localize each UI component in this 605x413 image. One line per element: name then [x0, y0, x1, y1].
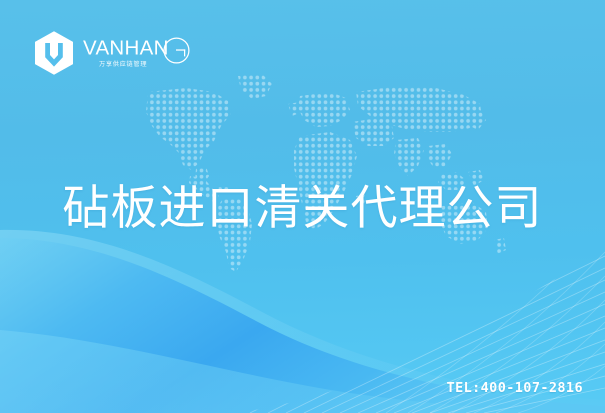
page-title: 砧板进口清关代理公司 — [0, 180, 605, 238]
contact-phone: TEL:400-107-2816 — [447, 380, 583, 396]
vanhang-wordmark: VANHAN VANHAN 万享供应链管理 — [83, 37, 193, 71]
banner-canvas: VANHAN VANHAN 万享供应链管理 砧板进口清关代理公司 TEL:400… — [0, 0, 605, 413]
company-logo: VANHAN VANHAN 万享供应链管理 — [33, 29, 193, 77]
logo-text-group: VANHAN VANHAN 万享供应链管理 — [83, 30, 193, 76]
svg-text:VANHAN: VANHAN — [83, 37, 169, 60]
logo-subtitle-cn: 万享供应链管理 — [99, 60, 147, 68]
hexagon-u-arrow-icon — [33, 30, 75, 76]
